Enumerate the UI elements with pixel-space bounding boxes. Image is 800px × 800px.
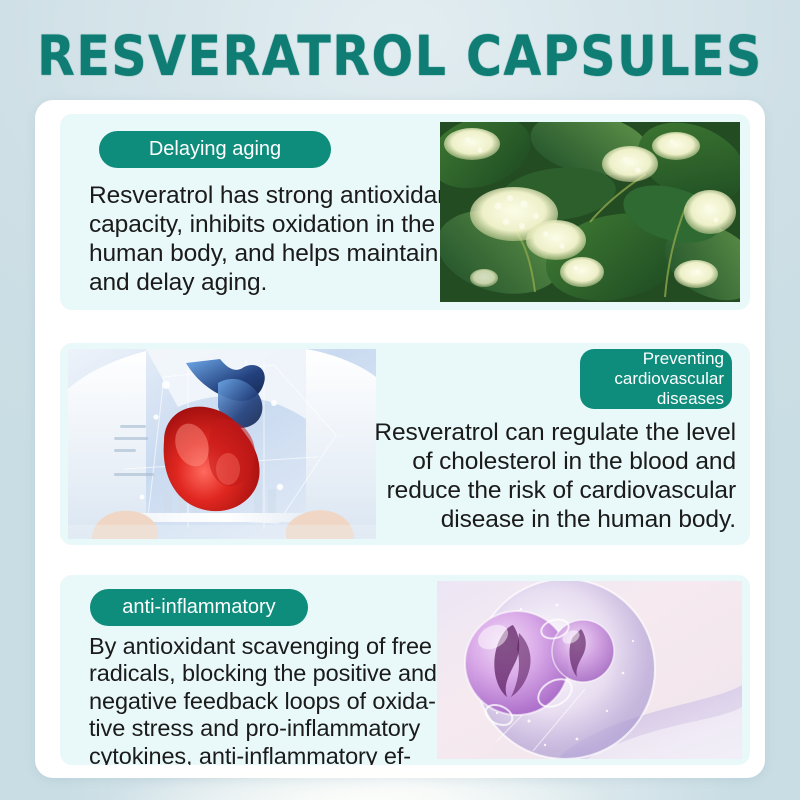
body-line: tive stress and pro-inflammatory <box>89 715 454 742</box>
benefit-panel-delaying-aging: Delaying aging Resveratrol has strong an… <box>60 114 750 310</box>
body-line: capacity, inhibits oxidation in the <box>89 211 474 240</box>
poster-background: RESVERATROL CAPSULES Delaying aging Resv… <box>0 0 800 800</box>
body-line: radicals, blocking the positive and <box>89 660 454 687</box>
body-line: and delay aging. <box>89 269 474 298</box>
badge-delaying-aging: Delaying aging <box>99 131 331 168</box>
body-line: Resveratrol can regulate the level <box>368 419 736 448</box>
body-line: of cholesterol in the blood and <box>368 448 736 477</box>
badge-line: Delaying aging <box>149 138 281 160</box>
body-line: By antioxidant scavenging of free <box>89 633 454 660</box>
badge-preventing-cardiovascular-diseases: Preventing cardiovascular diseases <box>580 349 732 409</box>
content-card: Delaying aging Resveratrol has strong an… <box>35 100 765 778</box>
body-line: reduce the risk of cardiovascular <box>368 477 736 506</box>
page-title: RESVERATROL CAPSULES <box>37 24 763 88</box>
badge-line: cardiovascular <box>614 369 724 389</box>
badge-line: anti-inflammatory <box>122 596 275 618</box>
badge-line: Preventing <box>643 349 724 369</box>
body-text-cardiovascular: Resveratrol can regulate the level of ch… <box>368 419 736 535</box>
badge-line: diseases <box>657 389 724 409</box>
page-title-area: RESVERATROL CAPSULES <box>0 20 800 92</box>
body-text-delaying-aging: Resveratrol has strong antioxidant capac… <box>89 182 474 298</box>
body-line: negative feedback loops of oxida- <box>89 688 454 715</box>
body-line: disease in the human body. <box>368 506 736 535</box>
benefit-panel-anti-inflammatory: anti-inflammatory By antioxidant scaveng… <box>60 575 750 765</box>
body-line: Resveratrol has strong antioxidant <box>89 182 474 211</box>
purple-capsule-cell-photo <box>437 581 742 759</box>
knotweed-plant-photo <box>440 122 740 302</box>
benefit-panel-cardiovascular: Preventing cardiovascular diseases Resve… <box>60 343 750 545</box>
badge-anti-inflammatory: anti-inflammatory <box>90 589 308 626</box>
body-text-anti-inflammatory: By antioxidant scavenging of free radica… <box>89 633 454 765</box>
holographic-heart-photo <box>68 349 376 539</box>
body-line: human body, and helps maintain <box>89 240 474 269</box>
body-line: cytokines, anti-inflammatory ef- <box>89 743 454 765</box>
